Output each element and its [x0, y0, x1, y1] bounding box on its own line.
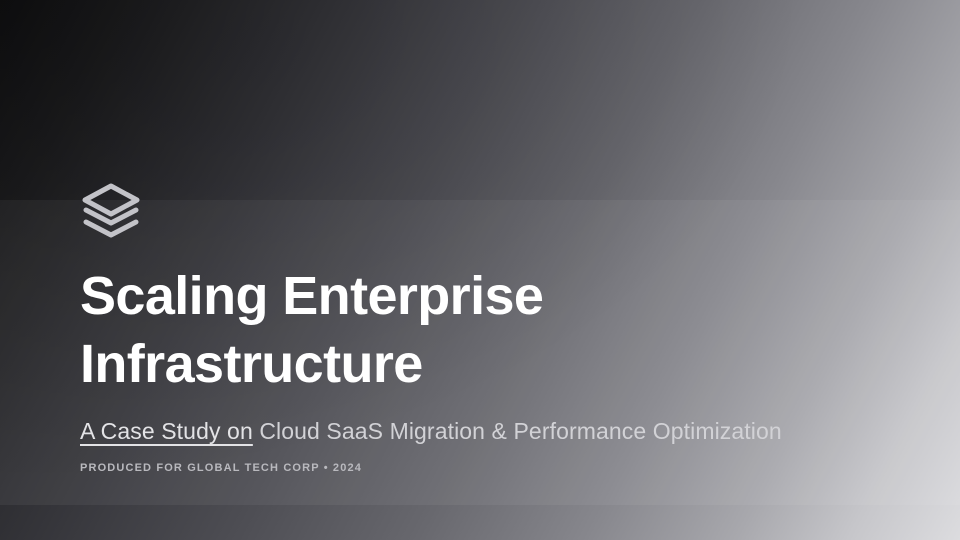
title-slide: Scaling Enterprise Infrastructure A Case…	[0, 0, 960, 540]
layers-icon	[80, 182, 142, 240]
slide-subtitle: A Case Study on Cloud SaaS Migration & P…	[80, 416, 920, 446]
page-title: Scaling Enterprise Infrastructure	[80, 262, 920, 398]
slide-footer-credit: PRODUCED FOR GLOBAL TECH CORP • 2024	[80, 460, 920, 476]
subtitle-rest-text: Cloud SaaS Migration & Performance Optim…	[253, 418, 782, 444]
subtitle-lead-link[interactable]: A Case Study on	[80, 418, 253, 444]
slide-content: Scaling Enterprise Infrastructure A Case…	[80, 182, 920, 476]
